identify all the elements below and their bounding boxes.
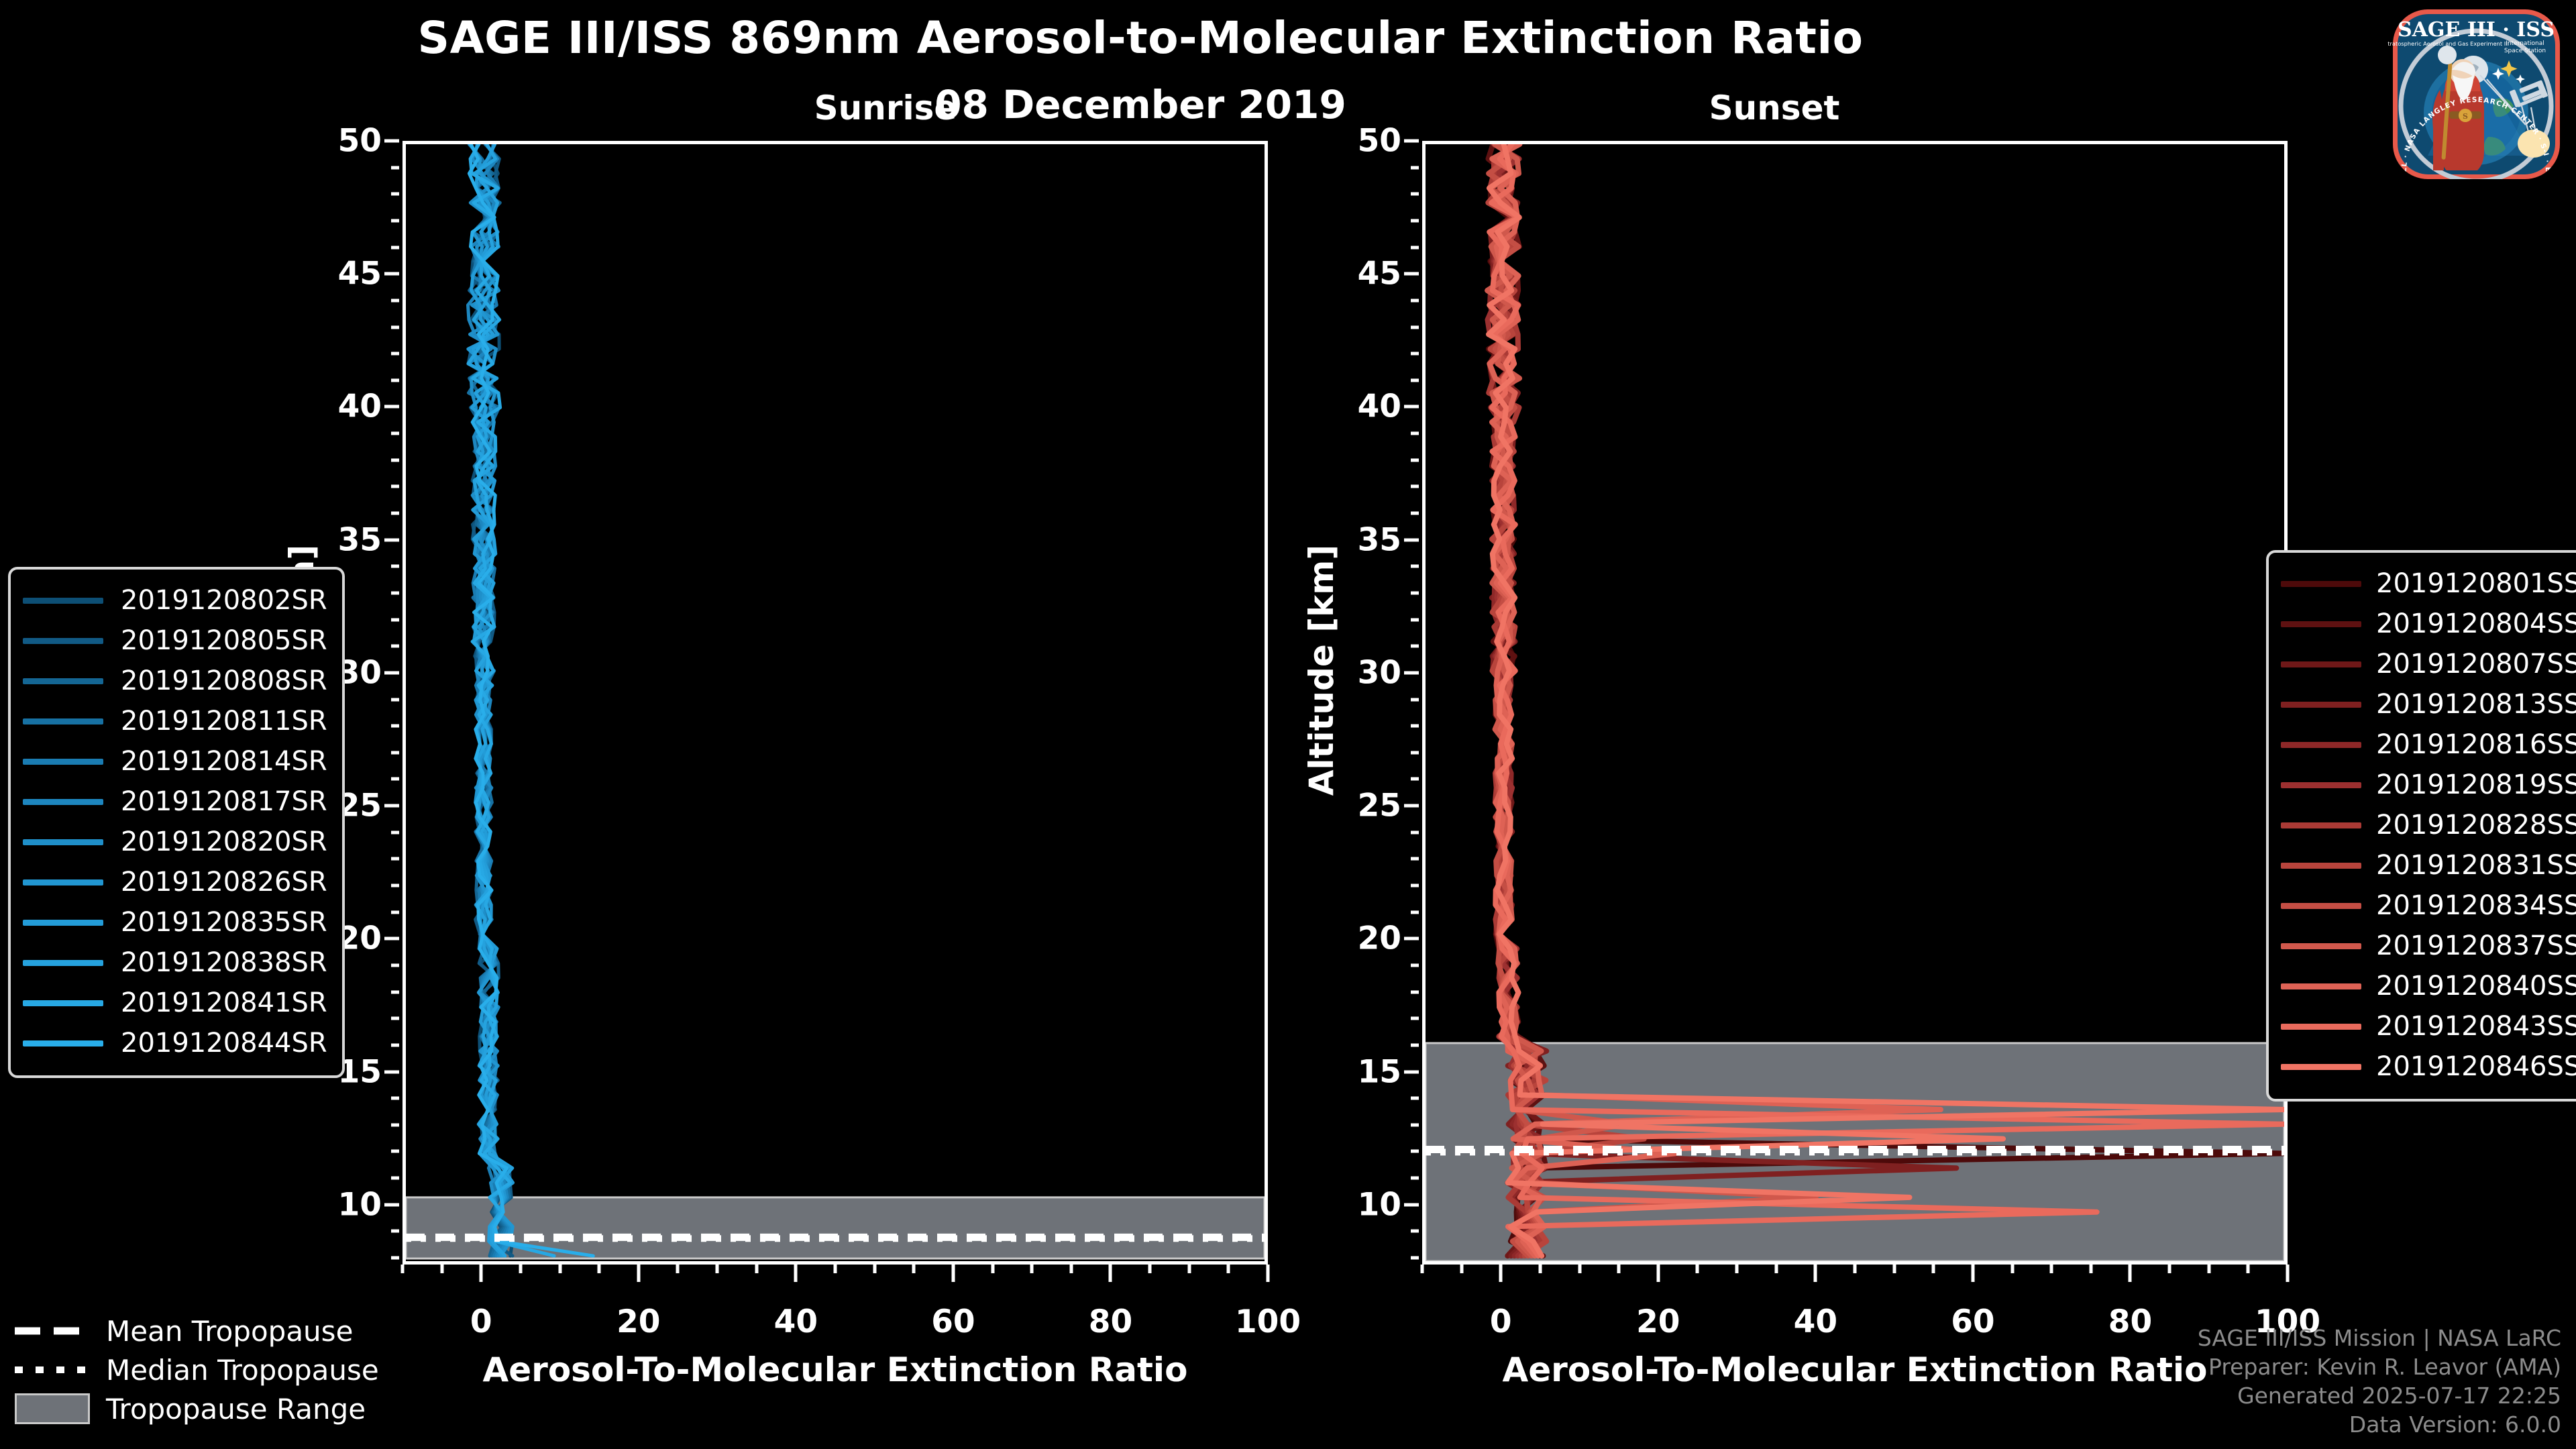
legend-series-label: 2019120807SS [2376, 649, 2576, 680]
y-minor-tick [391, 1097, 399, 1100]
y-minor-tick [1411, 884, 1419, 888]
y-tick-mark [384, 140, 399, 143]
legend-item[interactable]: 2019120805SR [23, 621, 327, 661]
y-minor-tick [391, 698, 399, 701]
y-tick-label-10: 10 [338, 1186, 382, 1223]
x-tick-mark [1499, 1265, 1503, 1282]
y-minor-tick [391, 485, 399, 488]
sunrise-x-axis: Aerosol-To-Molecular Extinction Ratio 02… [402, 1265, 1268, 1392]
footer-generated: Generated 2025-07-17 22:25 [2198, 1382, 2561, 1411]
dotted-line-icon [15, 1361, 90, 1379]
legend-item[interactable]: 2019120841SR [23, 983, 327, 1023]
y-tick-label-50: 50 [1358, 123, 1401, 160]
legend-color-swatch [23, 920, 103, 926]
y-minor-tick [1411, 591, 1419, 594]
filled-box-icon [15, 1400, 90, 1417]
y-minor-tick [1411, 432, 1419, 435]
y-minor-tick [391, 378, 399, 382]
y-tick-mark [1404, 671, 1419, 674]
legend-color-swatch [2281, 782, 2361, 788]
x-tick-mark [1109, 1265, 1112, 1282]
y-minor-tick [391, 910, 399, 914]
x-minor-tick [2050, 1265, 2053, 1273]
legend-item-median-tropopause: Median Tropopause [15, 1350, 379, 1389]
legend-series-label: 2019120831SS [2376, 850, 2576, 881]
logo-subtitle-left: Stratospheric Aerosol and Gas Experiment… [2387, 40, 2509, 47]
x-tick-mark [637, 1265, 640, 1282]
y-tick-mark [384, 1070, 399, 1073]
legend-series-label: 2019120840SS [2376, 971, 2576, 1002]
y-tick-label-20: 20 [1358, 920, 1401, 957]
y-minor-tick [391, 1177, 399, 1180]
legend-item[interactable]: 2019120837SS [2281, 926, 2576, 966]
legend-color-swatch [23, 839, 103, 845]
footer-mission: SAGE III/ISS Mission | NASA LaRC [2198, 1324, 2561, 1353]
sunset-plot-svg [1426, 144, 2284, 1261]
y-minor-tick [1411, 777, 1419, 781]
dashed-line-icon [15, 1322, 90, 1340]
legend-item[interactable]: 2019120814SR [23, 741, 327, 782]
y-tick-mark [1404, 1203, 1419, 1206]
page-title: SAGE III/ISS 869nm Aerosol-to-Molecular … [0, 12, 2281, 64]
x-tick-label-40: 40 [1794, 1303, 1837, 1340]
legend-series-label: 2019120838SR [121, 947, 327, 978]
y-tick-mark [1404, 937, 1419, 941]
legend-series-label: 2019120844SR [121, 1028, 327, 1059]
logo-title: SAGE III · ISS [2398, 18, 2555, 42]
sunrise-profile-legend[interactable]: 2019120802SR2019120805SR2019120808SR2019… [8, 567, 345, 1078]
legend-color-swatch [2281, 983, 2361, 989]
x-minor-tick [1774, 1265, 1778, 1273]
y-minor-tick [391, 352, 399, 356]
legend-item-mean-tropopause: Mean Tropopause [15, 1311, 379, 1350]
x-minor-tick [873, 1265, 876, 1273]
x-tick-label-80: 80 [1089, 1303, 1132, 1340]
legend-series-label: 2019120841SR [121, 987, 327, 1018]
mean-tropopause-label: Mean Tropopause [106, 1315, 353, 1348]
y-minor-tick [391, 299, 399, 302]
legend-item[interactable]: 2019120804SS [2281, 604, 2576, 644]
sunset-panel-heading: Sunset [1660, 89, 1888, 127]
y-minor-tick [391, 645, 399, 648]
x-tick-label-20: 20 [1636, 1303, 1680, 1340]
x-minor-tick [2010, 1265, 2014, 1273]
y-tick-label-30: 30 [1358, 654, 1401, 691]
y-tick-mark [384, 1203, 399, 1206]
y-axis-label: Altitude [km] [1302, 543, 1341, 798]
y-minor-tick [1411, 910, 1419, 914]
y-minor-tick [1411, 1043, 1419, 1046]
y-minor-tick [1411, 378, 1419, 382]
x-tick-label-0: 0 [470, 1303, 492, 1340]
x-minor-tick [598, 1265, 601, 1273]
y-minor-tick [391, 219, 399, 222]
y-minor-tick [1411, 166, 1419, 169]
legend-color-swatch [23, 759, 103, 765]
legend-series-label: 2019120826SR [121, 867, 327, 898]
x-minor-tick [1696, 1265, 1699, 1273]
y-minor-tick [391, 990, 399, 994]
legend-item[interactable]: 2019120802SR [23, 580, 327, 621]
sunset-profile-legend[interactable]: 2019120801SS2019120804SS2019120807SS2019… [2266, 550, 2576, 1102]
x-minor-tick [1892, 1265, 1896, 1273]
legend-item-tropopause-range: Tropopause Range [15, 1389, 379, 1428]
x-minor-tick [676, 1265, 680, 1273]
y-tick-label-40: 40 [338, 388, 382, 425]
y-minor-tick [1411, 299, 1419, 302]
x-tick-mark [2129, 1265, 2132, 1282]
sunrise-plot-canvas [406, 144, 1265, 1261]
x-minor-tick [401, 1265, 405, 1273]
y-tick-label-25: 25 [1358, 788, 1401, 824]
legend-color-swatch [23, 879, 103, 885]
y-minor-tick [1411, 830, 1419, 834]
y-minor-tick [391, 246, 399, 249]
y-minor-tick [391, 1230, 399, 1233]
legend-item[interactable]: 2019120846SS [2281, 1046, 2576, 1087]
tropopause-range-label: Tropopause Range [106, 1393, 366, 1426]
x-tick-mark [1814, 1265, 1817, 1282]
sunset-plot-area [1422, 141, 2288, 1265]
legend-series-label: 2019120814SR [121, 746, 327, 777]
y-minor-tick [1411, 1177, 1419, 1180]
y-minor-tick [1411, 1150, 1419, 1153]
x-tick-label-40: 40 [774, 1303, 818, 1340]
legend-series-label: 2019120817SR [121, 786, 327, 817]
y-tick-label-35: 35 [338, 521, 382, 558]
legend-color-swatch [2281, 903, 2361, 909]
y-minor-tick [1411, 219, 1419, 222]
legend-item[interactable]: 2019120831SS [2281, 845, 2576, 885]
legend-item[interactable]: 2019120840SS [2281, 966, 2576, 1006]
legend-color-swatch [23, 799, 103, 805]
legend-item[interactable]: 2019120801SS [2281, 563, 2576, 604]
y-tick-mark [1404, 1070, 1419, 1073]
legend-item[interactable]: 2019120817SR [23, 782, 327, 822]
legend-series-label: 2019120828SS [2376, 810, 2576, 841]
legend-series-label: 2019120808SR [121, 665, 327, 696]
y-minor-tick [1411, 1256, 1419, 1260]
x-tick-label-20: 20 [616, 1303, 660, 1340]
y-minor-tick [391, 830, 399, 834]
x-tick-label-60: 60 [1951, 1303, 1994, 1340]
y-minor-tick [391, 565, 399, 568]
x-tick-mark [794, 1265, 798, 1282]
legend-color-swatch [2281, 581, 2361, 587]
y-minor-tick [1411, 1097, 1419, 1100]
y-minor-tick [391, 857, 399, 861]
sunrise-panel-heading: Sunrise [771, 89, 1000, 127]
x-tick-label-80: 80 [2108, 1303, 2152, 1340]
x-minor-tick [2089, 1265, 2092, 1273]
y-tick-label-50: 50 [338, 123, 382, 160]
y-minor-tick [1411, 485, 1419, 488]
legend-item[interactable]: 2019120813SS [2281, 684, 2576, 724]
legend-color-swatch [2281, 943, 2361, 949]
y-tick-mark [1404, 140, 1419, 143]
svg-text:S: S [2463, 112, 2468, 121]
legend-series-label: 2019120835SR [121, 907, 327, 938]
x-tick-label-0: 0 [1490, 1303, 1512, 1340]
x-minor-tick [1227, 1265, 1230, 1273]
legend-item[interactable]: 2019120828SS [2281, 805, 2576, 845]
legend-color-swatch [23, 960, 103, 966]
x-minor-tick [1148, 1265, 1152, 1273]
legend-series-label: 2019120837SS [2376, 930, 2576, 961]
footer-preparer: Preparer: Kevin R. Leavor (AMA) [2198, 1353, 2561, 1382]
footer-credits: SAGE III/ISS Mission | NASA LaRC Prepare… [2198, 1324, 2561, 1440]
x-tick-mark [1971, 1265, 1974, 1282]
x-tick-mark [2286, 1265, 2290, 1282]
sunrise-plot-svg [406, 144, 1265, 1261]
legend-series-label: 2019120802SR [121, 585, 327, 616]
legend-color-swatch [23, 1000, 103, 1006]
y-minor-tick [1411, 751, 1419, 754]
x-minor-tick [1932, 1265, 1935, 1273]
y-minor-tick [391, 193, 399, 196]
x-minor-tick [1460, 1265, 1463, 1273]
legend-color-swatch [23, 638, 103, 644]
y-minor-tick [391, 1150, 399, 1153]
sunset-y-axis: 101520253035404550Altitude [km] [1258, 141, 1419, 1265]
y-minor-tick [1411, 724, 1419, 728]
logo-subtitle-right-2: Space Station [2504, 48, 2546, 54]
x-minor-tick [991, 1265, 994, 1273]
legend-item[interactable]: 2019120844SR [23, 1023, 327, 1063]
y-tick-label-45: 45 [338, 256, 382, 292]
x-minor-tick [834, 1265, 837, 1273]
x-minor-tick [1854, 1265, 1857, 1273]
y-tick-mark [384, 405, 399, 409]
x-minor-tick [1578, 1265, 1581, 1273]
x-minor-tick [2168, 1265, 2171, 1273]
y-minor-tick [391, 724, 399, 728]
mission-patch-svg: S BALL · NASA LANGLEY RESEARCH CENTER · … [2387, 5, 2565, 183]
y-minor-tick [1411, 1017, 1419, 1020]
legend-color-swatch [23, 1040, 103, 1046]
legend-item[interactable]: 2019120819SS [2281, 765, 2576, 805]
legend-item[interactable]: 2019120807SS [2281, 644, 2576, 684]
x-tick-mark [1656, 1265, 1660, 1282]
x-tick-mark [1267, 1265, 1270, 1282]
legend-color-swatch [2281, 863, 2361, 869]
legend-series-label: 2019120834SS [2376, 890, 2576, 921]
y-minor-tick [1411, 512, 1419, 515]
y-tick-mark [384, 937, 399, 941]
y-minor-tick [391, 751, 399, 754]
y-minor-tick [1411, 246, 1419, 249]
x-minor-tick [1617, 1265, 1621, 1273]
y-minor-tick [1411, 1123, 1419, 1126]
legend-item[interactable]: 2019120816SS [2281, 724, 2576, 765]
x-minor-tick [1421, 1265, 1424, 1273]
legend-color-swatch [23, 678, 103, 684]
legend-series-label: 2019120820SR [121, 826, 327, 857]
y-minor-tick [391, 777, 399, 781]
y-minor-tick [391, 618, 399, 621]
legend-color-swatch [23, 718, 103, 724]
x-minor-tick [1069, 1265, 1073, 1273]
y-tick-label-35: 35 [1358, 521, 1401, 558]
y-minor-tick [1411, 857, 1419, 861]
legend-item[interactable]: 2019120834SS [2281, 885, 2576, 926]
legend-series-label: 2019120843SS [2376, 1011, 2576, 1042]
legend-series-label: 2019120805SR [121, 625, 327, 656]
y-minor-tick [1411, 990, 1419, 994]
x-minor-tick [2247, 1265, 2250, 1273]
y-tick-mark [384, 538, 399, 541]
y-tick-mark [384, 272, 399, 276]
x-minor-tick [558, 1265, 561, 1273]
legend-color-swatch [2281, 661, 2361, 667]
y-tick-mark [1404, 804, 1419, 808]
y-minor-tick [1411, 565, 1419, 568]
legend-series-label: 2019120816SS [2376, 729, 2576, 760]
legend-color-swatch [2281, 1024, 2361, 1030]
y-minor-tick [391, 325, 399, 329]
legend-color-swatch [2281, 822, 2361, 828]
x-minor-tick [1735, 1265, 1739, 1273]
legend-series-label: 2019120813SS [2376, 689, 2576, 720]
x-minor-tick [2207, 1265, 2210, 1273]
y-minor-tick [1411, 645, 1419, 648]
legend-color-swatch [2281, 621, 2361, 627]
sunset-x-axis: Aerosol-To-Molecular Extinction Ratio 02… [1422, 1265, 2288, 1392]
y-minor-tick [391, 432, 399, 435]
sunrise-profile-lines [468, 144, 594, 1256]
x-minor-tick [519, 1265, 522, 1273]
y-tick-mark [384, 671, 399, 674]
y-minor-tick [391, 166, 399, 169]
y-minor-tick [1411, 1230, 1419, 1233]
x-minor-tick [716, 1265, 719, 1273]
legend-item[interactable]: 2019120811SR [23, 701, 327, 741]
y-minor-tick [1411, 618, 1419, 621]
legend-color-swatch [2281, 742, 2361, 748]
tropopause-legend: Mean Tropopause Median Tropopause Tropop… [15, 1311, 379, 1428]
legend-color-swatch [23, 598, 103, 604]
legend-item[interactable]: 2019120826SR [23, 862, 327, 902]
legend-item[interactable]: 2019120820SR [23, 822, 327, 862]
legend-item[interactable]: 2019120835SR [23, 902, 327, 943]
x-minor-tick [1187, 1265, 1191, 1273]
footer-data-version: Data Version: 6.0.0 [2198, 1411, 2561, 1440]
legend-color-swatch [2281, 1064, 2361, 1070]
y-minor-tick [1411, 352, 1419, 356]
y-minor-tick [1411, 458, 1419, 462]
y-tick-mark [1404, 272, 1419, 276]
y-tick-label-45: 45 [1358, 256, 1401, 292]
x-minor-tick [1030, 1265, 1034, 1273]
legend-color-swatch [2281, 702, 2361, 708]
y-minor-tick [1411, 193, 1419, 196]
logo-subtitle-right-1: International [2506, 40, 2544, 47]
legend-item[interactable]: 2019120808SR [23, 661, 327, 701]
y-tick-label-15: 15 [1358, 1053, 1401, 1090]
sunset-x-axis-label: Aerosol-To-Molecular Extinction Ratio [1422, 1350, 2288, 1389]
y-minor-tick [391, 458, 399, 462]
y-minor-tick [1411, 325, 1419, 329]
legend-series-label: 2019120804SS [2376, 608, 2576, 639]
x-tick-mark [951, 1265, 955, 1282]
x-tick-label-60: 60 [931, 1303, 975, 1340]
x-tick-mark [480, 1265, 483, 1282]
sage-iii-iss-mission-patch-logo: S BALL · NASA LANGLEY RESEARCH CENTER · … [2387, 5, 2565, 183]
x-minor-tick [912, 1265, 916, 1273]
y-minor-tick [391, 963, 399, 967]
y-minor-tick [391, 1123, 399, 1126]
sunrise-x-axis-label: Aerosol-To-Molecular Extinction Ratio [402, 1350, 1268, 1389]
legend-series-label: 2019120846SS [2376, 1051, 2576, 1082]
x-minor-tick [1538, 1265, 1542, 1273]
legend-item[interactable]: 2019120838SR [23, 943, 327, 983]
date-subtitle: 08 December 2019 [0, 82, 2281, 127]
legend-item[interactable]: 2019120843SS [2281, 1006, 2576, 1046]
y-tick-mark [1404, 405, 1419, 409]
median-tropopause-label: Median Tropopause [106, 1354, 379, 1387]
x-minor-tick [755, 1265, 758, 1273]
legend-series-label: 2019120819SS [2376, 769, 2576, 800]
legend-series-label: 2019120801SS [2376, 568, 2576, 599]
y-minor-tick [391, 512, 399, 515]
y-tick-label-10: 10 [1358, 1186, 1401, 1223]
y-minor-tick [391, 1017, 399, 1020]
y-tick-label-40: 40 [1358, 388, 1401, 425]
legend-series-label: 2019120811SR [121, 706, 327, 737]
sunset-plot-canvas [1426, 144, 2284, 1261]
y-minor-tick [1411, 963, 1419, 967]
y-tick-mark [1404, 538, 1419, 541]
x-tick-label-100: 100 [1235, 1303, 1301, 1340]
y-minor-tick [391, 1256, 399, 1260]
y-minor-tick [1411, 698, 1419, 701]
y-minor-tick [391, 591, 399, 594]
y-minor-tick [391, 1043, 399, 1046]
y-tick-mark [384, 804, 399, 808]
sunrise-plot-area [402, 141, 1268, 1265]
y-minor-tick [391, 884, 399, 888]
x-minor-tick [440, 1265, 443, 1273]
